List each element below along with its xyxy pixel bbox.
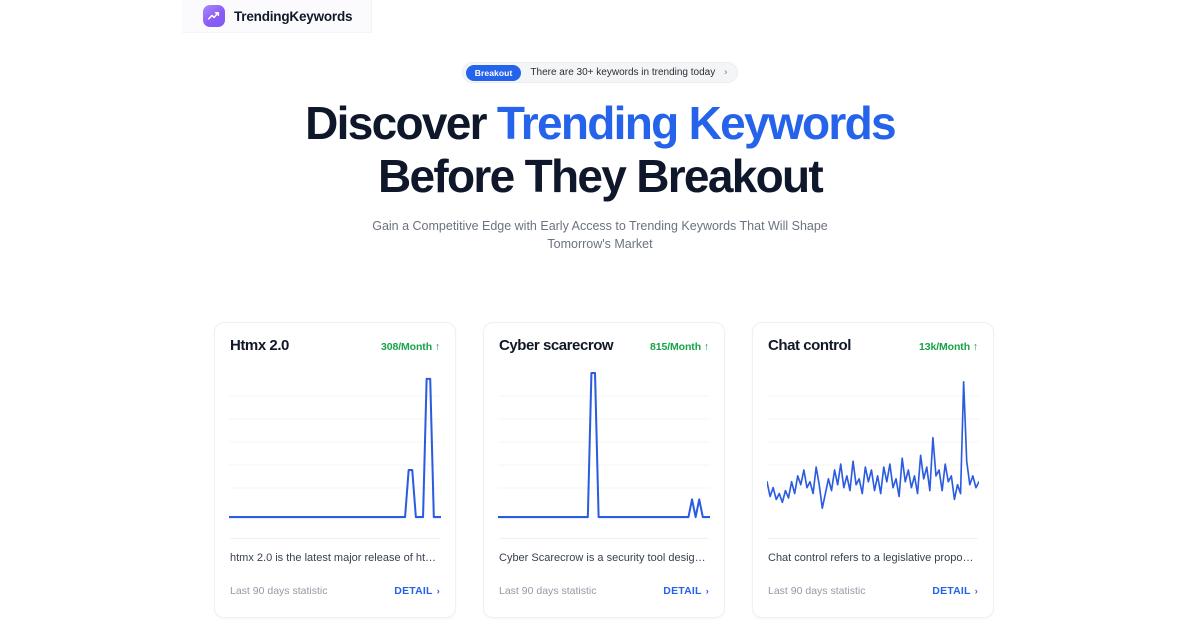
trend-up-arrow-icon: ↑ — [973, 341, 978, 353]
trending-up-icon — [203, 5, 225, 27]
card-metric: 815/Month ↑ — [650, 341, 709, 353]
page-title: Discover Trending Keywords Before They B… — [0, 100, 1200, 200]
chevron-right-icon: › — [437, 586, 440, 597]
sparkline-path-2 — [767, 382, 979, 508]
chart-gridlines — [498, 396, 710, 488]
detail-button[interactable]: DETAIL › — [394, 585, 440, 597]
headline-line-1: Discover Trending Keywords — [0, 100, 1200, 147]
chevron-right-icon: › — [706, 586, 709, 597]
sparkline-svg — [498, 367, 710, 528]
card-description: htmx 2.0 is the latest major release of … — [230, 551, 440, 565]
sparkline-path-0 — [229, 379, 441, 517]
card-description: Chat control refers to a legislative pro… — [768, 551, 978, 565]
headline-line-2: Before They Breakout — [0, 153, 1200, 200]
card-footer: Last 90 days statistic DETAIL › — [768, 585, 978, 597]
brand-name: TrendingKeywords — [234, 9, 352, 24]
breakout-chip: Breakout — [466, 65, 522, 81]
card-metric-value: 815/Month — [650, 341, 701, 353]
keyword-card[interactable]: Htmx 2.0 308/Month ↑ — [214, 322, 456, 618]
card-divider — [768, 538, 978, 539]
brand-logo-link[interactable]: TrendingKeywords — [203, 5, 352, 27]
detail-label: DETAIL — [932, 585, 970, 597]
card-title: Cyber scarecrow — [499, 337, 613, 354]
keyword-card[interactable]: Chat control 13k/Month ↑ — [752, 322, 994, 618]
card-header: Chat control 13k/Month ↑ — [767, 337, 979, 359]
card-metric: 13k/Month ↑ — [919, 341, 978, 353]
sparkline-svg — [767, 367, 979, 528]
detail-button[interactable]: DETAIL › — [663, 585, 709, 597]
keyword-cards: Htmx 2.0 308/Month ↑ — [214, 322, 986, 618]
headline-text-discover: Discover — [305, 97, 497, 149]
chevron-right-icon: › — [975, 586, 978, 597]
detail-label: DETAIL — [394, 585, 432, 597]
card-header: Htmx 2.0 308/Month ↑ — [229, 337, 441, 359]
landing-page: TrendingKeywords Breakout There are 30+ … — [0, 0, 1200, 628]
card-footer: Last 90 days statistic DETAIL › — [499, 585, 709, 597]
sparkline-svg — [229, 367, 441, 528]
card-metric-value: 13k/Month — [919, 341, 970, 353]
detail-label: DETAIL — [663, 585, 701, 597]
card-description: Cyber Scarecrow is a security tool desig… — [499, 551, 709, 565]
hero-subtitle: Gain a Competitive Edge with Early Acces… — [365, 218, 835, 254]
card-footer-note: Last 90 days statistic — [230, 585, 327, 597]
headline-accent: Trending Keywords — [497, 97, 895, 149]
trending-announcement-badge[interactable]: Breakout There are 30+ keywords in trend… — [462, 62, 739, 83]
card-footer-note: Last 90 days statistic — [499, 585, 596, 597]
card-footer-note: Last 90 days statistic — [768, 585, 865, 597]
card-footer: Last 90 days statistic DETAIL › — [230, 585, 440, 597]
sparkline-chart — [498, 367, 710, 528]
card-title: Chat control — [768, 337, 851, 354]
badge-text: There are 30+ keywords in trending today — [530, 67, 715, 78]
hero-section: Breakout There are 30+ keywords in trend… — [0, 62, 1200, 253]
card-divider — [230, 538, 440, 539]
trend-up-arrow-icon: ↑ — [704, 341, 709, 353]
sparkline-path-1 — [498, 373, 710, 517]
keyword-card[interactable]: Cyber scarecrow 815/Month ↑ — [483, 322, 725, 618]
trend-up-arrow-icon: ↑ — [435, 341, 440, 353]
sparkline-chart — [229, 367, 441, 528]
card-metric: 308/Month ↑ — [381, 341, 440, 353]
card-header: Cyber scarecrow 815/Month ↑ — [498, 337, 710, 359]
site-header: TrendingKeywords — [0, 0, 1200, 34]
card-title: Htmx 2.0 — [230, 337, 289, 354]
sparkline-chart — [767, 367, 979, 528]
detail-button[interactable]: DETAIL › — [932, 585, 978, 597]
card-metric-value: 308/Month — [381, 341, 432, 353]
card-divider — [499, 538, 709, 539]
chevron-right-icon: › — [724, 68, 727, 77]
